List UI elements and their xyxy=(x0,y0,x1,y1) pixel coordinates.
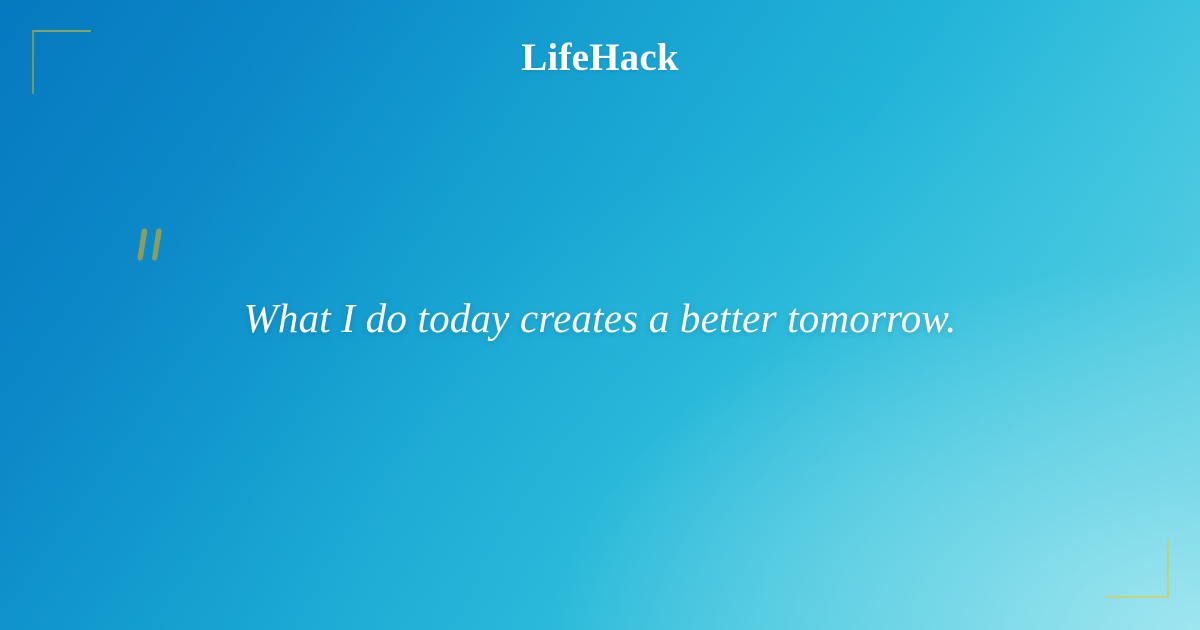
corner-bracket-bottom-right-icon xyxy=(1106,540,1169,598)
quote-card: LifeHack What I do today creates a bette… xyxy=(0,0,1200,630)
double-quote-icon xyxy=(131,226,177,276)
brand-logo: LifeHack xyxy=(0,38,1200,77)
quote-text: What I do today creates a better tomorro… xyxy=(244,292,957,344)
quote-block: What I do today creates a better tomorro… xyxy=(0,292,1200,344)
